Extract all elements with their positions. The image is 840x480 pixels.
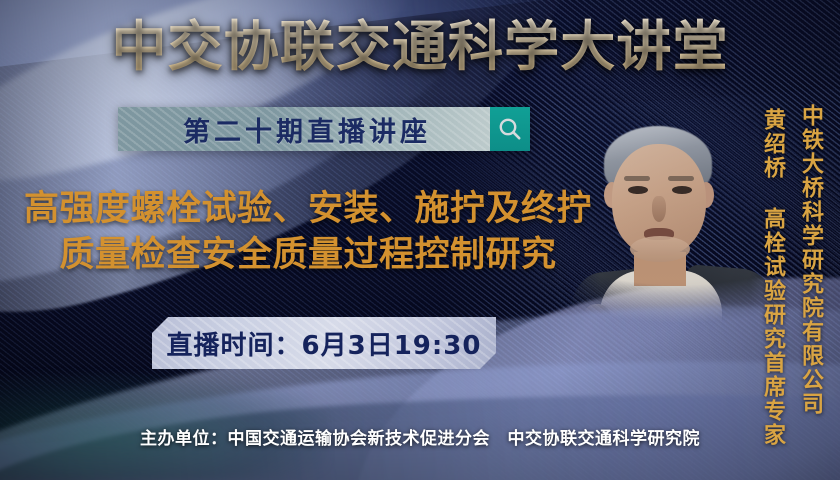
episode-banner: 第二十期直播讲座 <box>118 107 530 151</box>
lecture-headline-line1: 高强度螺栓试验、安装、施拧及终拧 <box>8 186 608 232</box>
organizer-footer: 主办单位：中国交通运输协会新技术促进分会 中交协联交通科学研究院 <box>0 424 840 449</box>
live-lecture-poster: 中交协联交通科学大讲堂 第二十期直播讲座 高强度螺栓试验、安装、施拧及终拧 质量… <box>0 0 840 480</box>
broadcast-time-label: 直播时间：6月3日19:30 <box>167 325 482 362</box>
search-icon <box>497 116 523 142</box>
episode-banner-fill: 第二十期直播讲座 <box>118 107 490 151</box>
lecture-headline: 高强度螺栓试验、安装、施拧及终拧 质量检查安全质量过程控制研究 <box>8 186 608 278</box>
speaker-name-title: 黄绍桥 高栓试验研究首席专家 <box>756 108 788 447</box>
episode-label: 第二十期直播讲座 <box>177 110 431 149</box>
speaker-company: 中铁大桥科学研究院有限公司 <box>794 104 826 416</box>
page-title: 中交协联交通科学大讲堂 <box>0 14 840 80</box>
search-button[interactable] <box>490 107 530 151</box>
broadcast-time-badge: 直播时间：6月3日19:30 <box>152 317 496 369</box>
lecture-headline-line2: 质量检查安全质量过程控制研究 <box>8 232 608 278</box>
